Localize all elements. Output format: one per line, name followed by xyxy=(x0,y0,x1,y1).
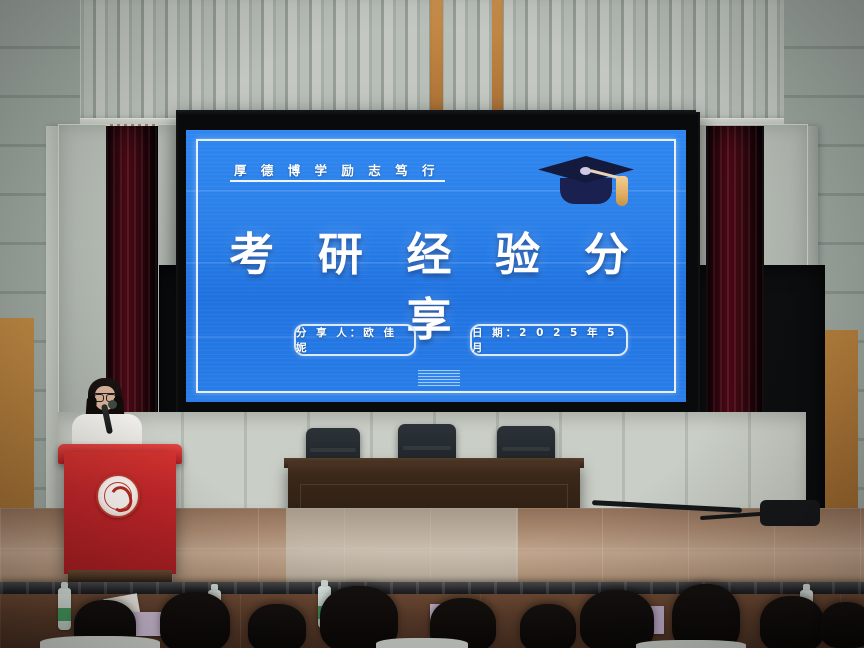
presenter-pill: 分 享 人：欧 佳 妮 xyxy=(294,324,416,356)
audience-shoulder xyxy=(636,640,746,648)
podium-base xyxy=(68,570,172,582)
audience-head xyxy=(160,592,230,648)
led-pixel-artifact xyxy=(418,370,460,386)
microphone-head xyxy=(108,400,117,409)
audience-head xyxy=(760,596,824,648)
date-pill: 日 期：2 0 2 5 年 5 月 xyxy=(470,324,628,356)
audience-head xyxy=(820,602,864,648)
audience-head xyxy=(520,604,576,648)
water-bottle[interactable] xyxy=(58,588,71,630)
audience-shoulder xyxy=(376,638,468,648)
wood-slat xyxy=(492,0,503,128)
ceiling-slats xyxy=(0,0,864,128)
audience-head xyxy=(672,584,740,648)
slide-motto-underline xyxy=(230,180,445,182)
slide-motto: 厚 德 博 学 励 志 笃 行 xyxy=(234,160,439,179)
presentation-slide[interactable]: 厚 德 博 学 励 志 笃 行 考 研 经 验 分 享 分 享 人：欧 佳 妮 … xyxy=(186,130,686,402)
auditorium-scene: 厚 德 博 学 励 志 笃 行 考 研 经 验 分 享 分 享 人：欧 佳 妮 … xyxy=(0,0,864,648)
school-crest-icon xyxy=(96,474,140,518)
graduation-cap-icon xyxy=(538,150,634,212)
audience-head xyxy=(248,604,306,648)
audience-head xyxy=(580,590,654,648)
audience-shoulder xyxy=(40,636,160,648)
wood-slat xyxy=(430,0,443,128)
floor-speaker-box xyxy=(760,500,820,526)
